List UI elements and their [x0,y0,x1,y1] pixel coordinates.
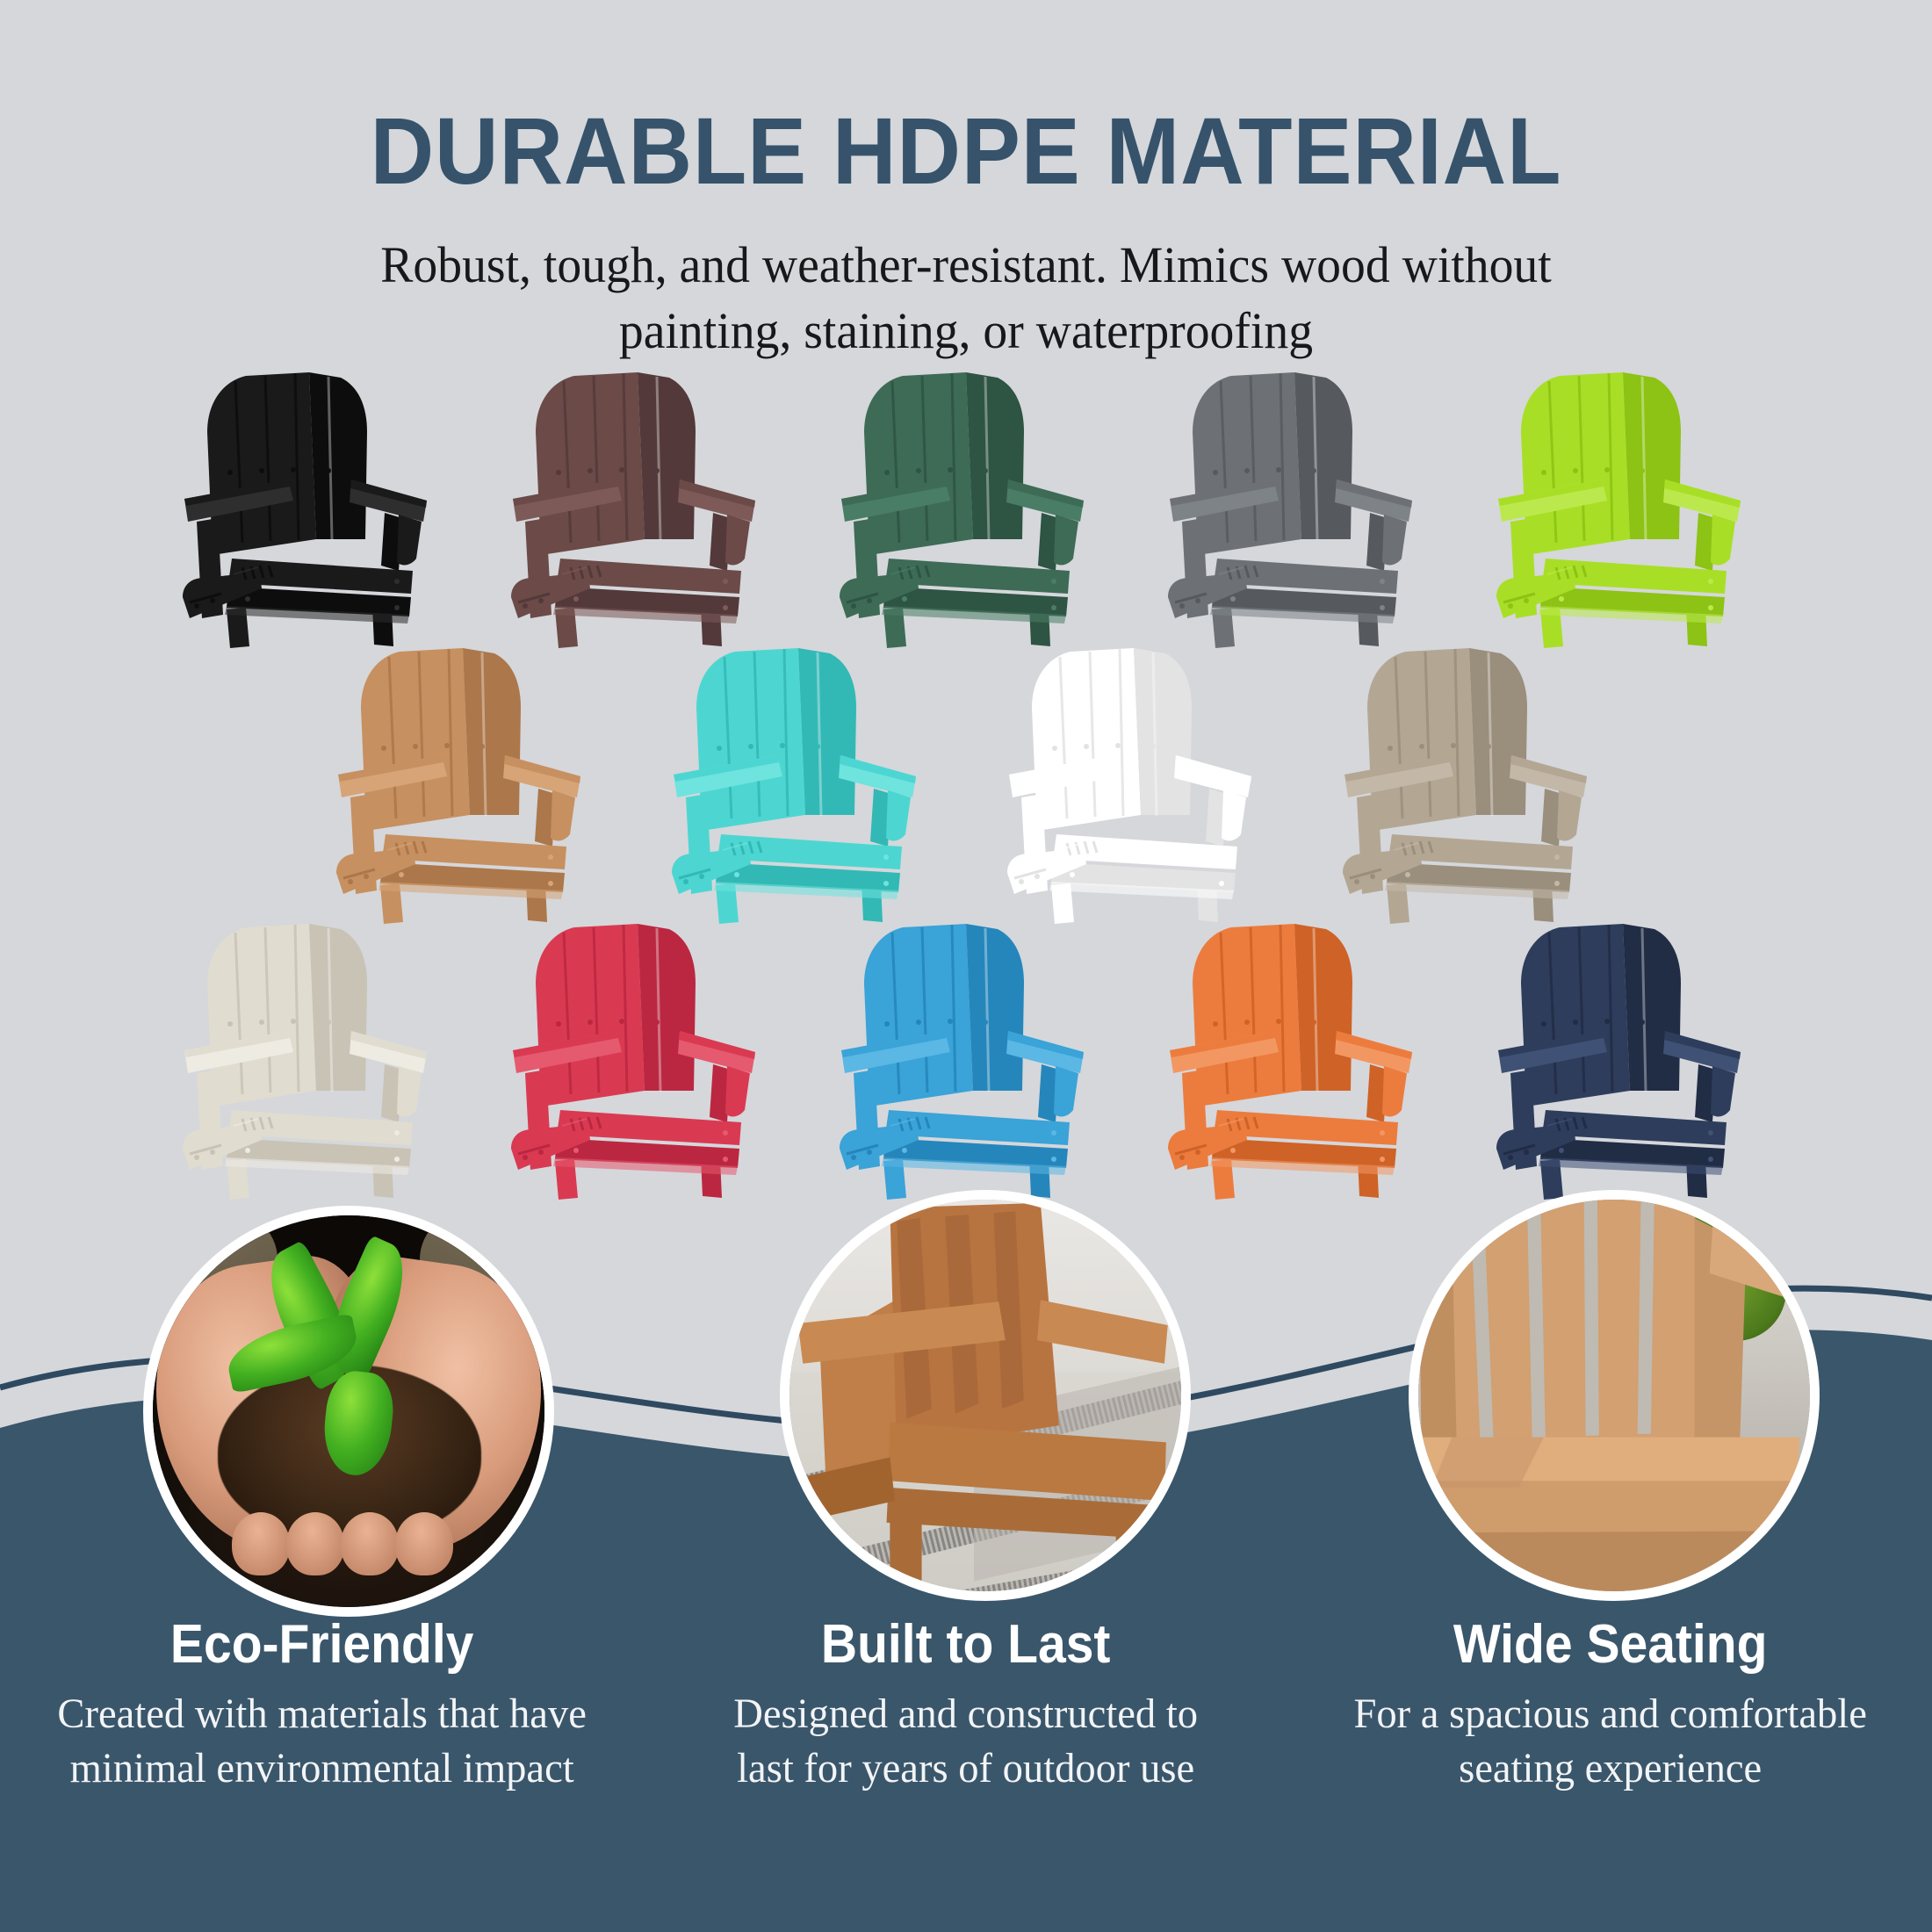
chair-svg [1491,919,1755,1200]
chair-svg [1002,643,1265,924]
feature-desc-line-2: seating experience [1320,1741,1900,1796]
adirondack-chair-icon [1163,919,1426,1200]
wide-seat-closeup-photo [1409,1190,1820,1601]
chair-swatch-black[interactable] [177,367,441,648]
chair-svg [506,367,769,648]
teak-chair-on-patio-photo [780,1190,1191,1601]
chair-svg [506,919,769,1200]
feature-title: Eco-Friendly [47,1616,597,1673]
feature-description: For a spacious and comfortable seating e… [1320,1687,1900,1797]
chair-svg [1491,367,1755,648]
feature-desc-line-2: minimal environmental impact [32,1741,612,1796]
chair-swatch-navy-blue[interactable] [1491,919,1755,1200]
chair-svg [834,367,1098,648]
chair-swatch-dark-green[interactable] [834,367,1098,648]
chair-swatch-turquoise[interactable] [667,643,930,924]
feature-photo-circles [0,1190,1932,1647]
chair-swatch-orange[interactable] [1163,919,1426,1200]
chair-svg [1337,643,1601,924]
chair-color-grid [0,367,1932,1200]
chair-swatch-gray[interactable] [1163,367,1426,648]
infographic-canvas: DURABLE HDPE MATERIAL Robust, tough, and… [0,0,1932,1932]
feature-desc-line-1: For a spacious and comfortable [1320,1687,1900,1741]
adirondack-chair-icon [1002,643,1265,924]
chair-svg [331,643,595,924]
feature-desc-line-1: Designed and constructed to [676,1687,1257,1741]
adirondack-chair-icon [177,919,441,1200]
adirondack-chair-icon [667,643,930,924]
page-subtitle: Robust, tough, and weather-resistant. Mi… [39,232,1893,364]
chair-row-1 [0,367,1932,648]
chair-row-3 [0,919,1932,1200]
adirondack-chair-icon [1491,919,1755,1200]
feature-desc-line-2: last for years of outdoor use [676,1741,1257,1796]
subtitle-line-2: painting, staining, or waterproofing [39,298,1893,364]
chair-swatch-brown[interactable] [506,367,769,648]
chair-svg [177,919,441,1200]
chair-svg [177,367,441,648]
adirondack-chair-icon [331,643,595,924]
feature-desc-line-1: Created with materials that have [32,1687,612,1741]
adirondack-chair-icon [1163,367,1426,648]
adirondack-chair-icon [506,367,769,648]
chair-swatch-khaki[interactable] [1337,643,1601,924]
feature-eco-friendly: Eco-Friendly Created with materials that… [0,1616,644,1797]
adirondack-chair-icon [1491,367,1755,648]
feature-title: Built to Last [691,1616,1242,1673]
adirondack-chair-icon [177,367,441,648]
adirondack-chair-icon [506,919,769,1200]
adirondack-chair-icon [834,367,1098,648]
subtitle-line-1: Robust, tough, and weather-resistant. Mi… [39,232,1893,298]
chair-swatch-ivory[interactable] [177,919,441,1200]
chair-row-2 [0,643,1932,924]
chair-swatch-lime-green[interactable] [1491,367,1755,648]
chair-swatch-teak[interactable] [331,643,595,924]
adirondack-chair-icon [834,919,1098,1200]
chair-swatch-blue[interactable] [834,919,1098,1200]
chair-svg [667,643,930,924]
header: DURABLE HDPE MATERIAL Robust, tough, and… [0,0,1932,364]
feature-description: Created with materials that have minimal… [32,1687,612,1797]
adirondack-chair-icon [1337,643,1601,924]
chair-svg [1163,919,1426,1200]
chair-svg [834,919,1098,1200]
feature-captions: Eco-Friendly Created with materials that… [0,1616,1932,1797]
page-title: DURABLE HDPE MATERIAL [68,104,1864,198]
feature-built-to-last: Built to Last Designed and constructed t… [644,1616,1287,1797]
hands-holding-seedling-photo [143,1206,554,1617]
feature-wide-seating: Wide Seating For a spacious and comforta… [1288,1616,1932,1797]
feature-description: Designed and constructed to last for yea… [676,1687,1257,1797]
feature-title: Wide Seating [1335,1616,1885,1673]
chair-svg [1163,367,1426,648]
chair-swatch-red[interactable] [506,919,769,1200]
chair-swatch-white[interactable] [1002,643,1265,924]
